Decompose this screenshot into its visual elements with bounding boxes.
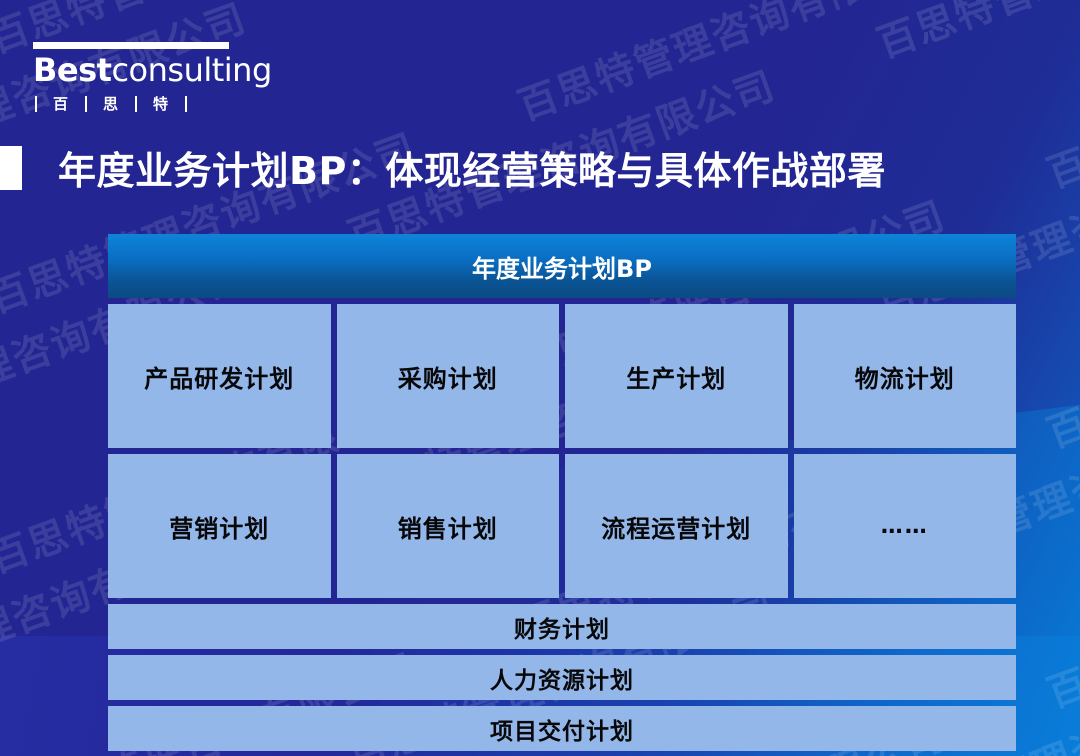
logo-divider-1 <box>35 96 37 112</box>
title-accent-bar <box>0 146 22 190</box>
page-title: 年度业务计划BP：体现经营策略与具体作战部署 <box>58 140 886 195</box>
plan-cell[interactable]: 销售计划 <box>337 454 560 598</box>
diagram-bars: 财务计划人力资源计划项目交付计划 <box>108 604 1016 751</box>
logo-cn-char-1: 百 <box>53 93 69 114</box>
slide-canvas: 百思特管理咨询有限公司百思特管理咨询有限公司百思特管理咨询有限公司百思特管理咨询… <box>0 0 1080 756</box>
plan-bar[interactable]: 项目交付计划 <box>108 706 1016 751</box>
logo-wordmark: Bestconsulting <box>33 52 229 88</box>
logo-chinese-name: 百 思 特 <box>33 93 229 114</box>
plan-bar[interactable]: 财务计划 <box>108 604 1016 649</box>
plan-cell[interactable]: 生产计划 <box>565 304 788 448</box>
logo-cn-char-2: 思 <box>103 93 119 114</box>
plan-cell[interactable]: …… <box>794 454 1017 598</box>
plan-bar[interactable]: 人力资源计划 <box>108 655 1016 700</box>
logo-cn-char-3: 特 <box>153 93 169 114</box>
logo-divider-2 <box>85 96 87 112</box>
diagram-grid: 产品研发计划采购计划生产计划物流计划营销计划销售计划流程运营计划…… <box>108 304 1016 598</box>
logo-top-rule <box>33 42 229 49</box>
logo-divider-3 <box>135 96 137 112</box>
logo-divider-4 <box>185 96 187 112</box>
bp-diagram: 年度业务计划BP 产品研发计划采购计划生产计划物流计划营销计划销售计划流程运营计… <box>108 234 1016 751</box>
plan-cell[interactable]: 营销计划 <box>108 454 331 598</box>
logo-consulting-text: consulting <box>111 51 271 89</box>
plan-cell[interactable]: 流程运营计划 <box>565 454 788 598</box>
diagram-header: 年度业务计划BP <box>108 234 1016 298</box>
logo-dot-icon <box>88 43 93 48</box>
plan-cell[interactable]: 采购计划 <box>337 304 560 448</box>
plan-cell[interactable]: 产品研发计划 <box>108 304 331 448</box>
plan-cell[interactable]: 物流计划 <box>794 304 1017 448</box>
company-logo: Bestconsulting 百 思 特 <box>33 42 229 114</box>
logo-best-text: Best <box>33 51 111 89</box>
